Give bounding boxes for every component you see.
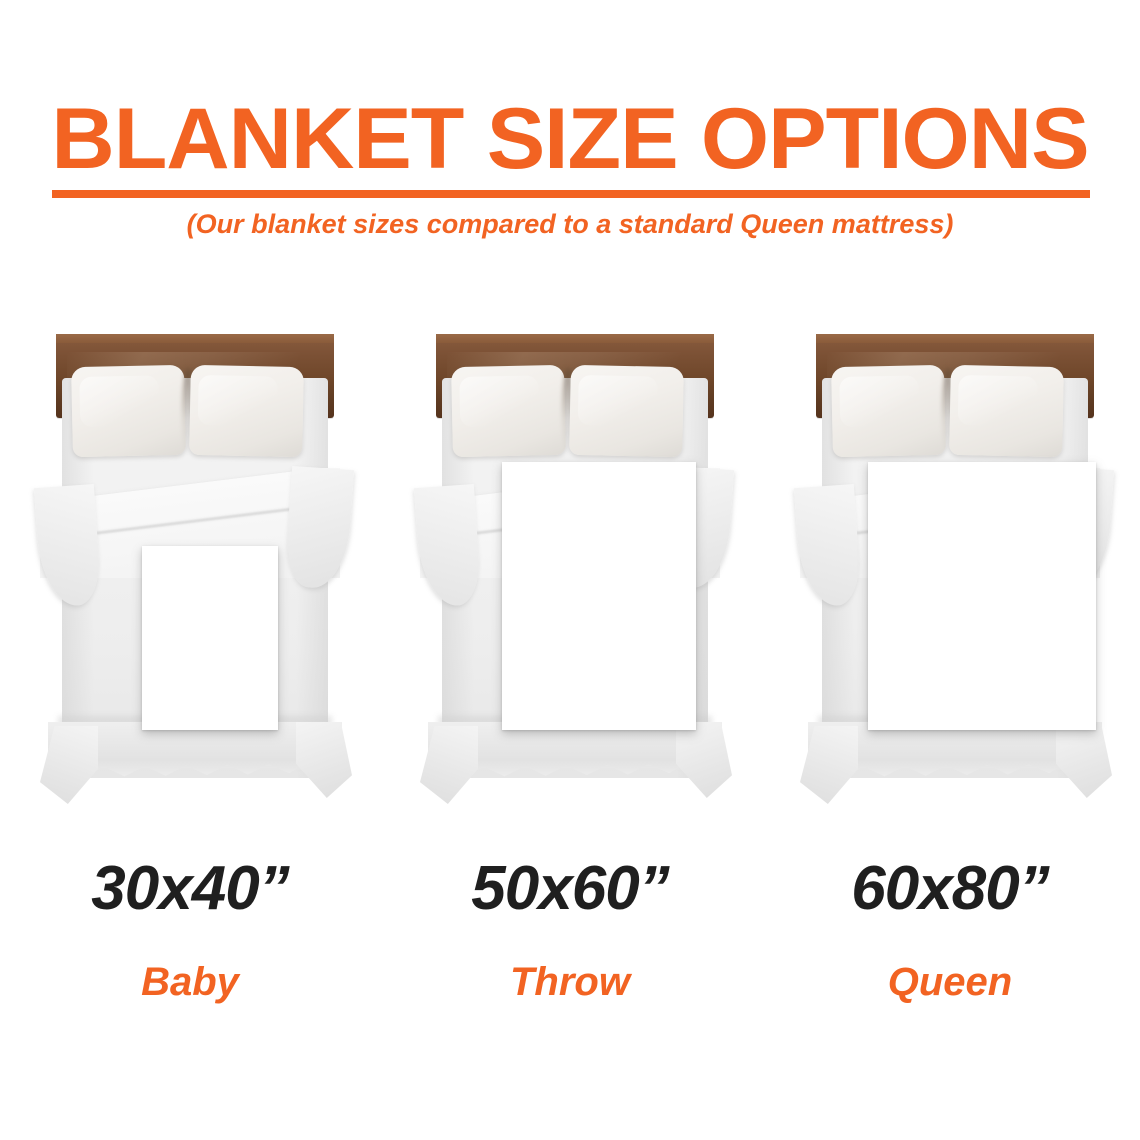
foot-skirt-corner-right: [296, 722, 352, 798]
title-underline-rule: [52, 190, 1090, 198]
blanket-size-options-graphic: BLANKET SIZE OPTIONS (Our blanket sizes …: [0, 0, 1140, 1140]
blanket-swatch-queen: [868, 462, 1096, 730]
bed-column-throw: [390, 318, 750, 818]
blanket-swatch-baby: [142, 546, 278, 730]
caption-queen: 60x80” Queen: [760, 852, 1140, 1006]
caption-throw: 50x60” Throw: [380, 852, 760, 1006]
duvet-drape-right: [284, 466, 354, 590]
bed-illustration: [790, 318, 1110, 808]
bed-column-queen: [770, 318, 1130, 818]
foot-skirt-corner-right: [676, 722, 732, 798]
blanket-swatch-throw: [502, 462, 696, 730]
duvet-drape-left: [794, 484, 862, 608]
type-label-queen: Queen: [760, 958, 1140, 1006]
duvet-drape-left: [414, 484, 482, 608]
pillow-left: [451, 365, 566, 457]
bed-illustration: [30, 318, 350, 808]
size-label-throw: 50x60”: [380, 852, 760, 926]
type-label-throw: Throw: [380, 958, 760, 1006]
caption-row: 30x40” Baby 50x60” Throw 60x80” Queen: [0, 852, 1140, 1052]
pillow-left: [831, 365, 946, 457]
duvet-drape-left: [34, 484, 102, 608]
pillow-left: [71, 365, 186, 457]
bed-comparison-row: [0, 318, 1140, 818]
page-title: BLANKET SIZE OPTIONS: [0, 96, 1140, 182]
pillow-right: [189, 365, 304, 457]
bed-column-baby: [10, 318, 370, 818]
foot-skirt-corner-right: [1056, 722, 1112, 798]
caption-baby: 30x40” Baby: [0, 852, 380, 1006]
pillow-right: [569, 365, 684, 457]
bed-illustration: [410, 318, 730, 808]
page-subtitle: (Our blanket sizes compared to a standar…: [0, 207, 1140, 241]
type-label-baby: Baby: [0, 958, 380, 1006]
pillow-right: [949, 365, 1064, 457]
size-label-baby: 30x40”: [0, 852, 380, 926]
size-label-queen: 60x80”: [760, 852, 1140, 926]
